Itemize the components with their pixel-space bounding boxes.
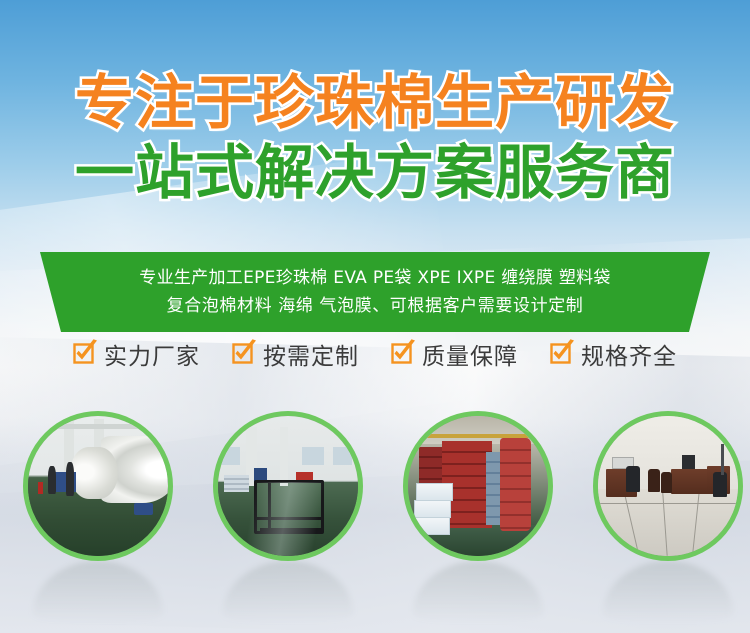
headline-primary: 专注于珍珠棉生产研发 (0, 72, 750, 134)
photo-reflection (413, 561, 543, 623)
check-box-icon (73, 343, 95, 365)
feature-list: 实力厂家 按需定制 质量保障 (0, 337, 750, 371)
green-band-shape (0, 252, 750, 332)
feature-label: 规格齐全 (581, 337, 677, 371)
check-box-icon (232, 343, 254, 365)
photo-image-workshop-rack (218, 416, 358, 556)
promo-banner: 专注于珍珠棉生产研发 一站式解决方案服务商 专业生产加工EPE珍珠棉 EVA P… (0, 0, 750, 633)
photo-warehouse-stock (403, 411, 553, 561)
feature-item-custom: 按需定制 (232, 337, 359, 371)
photo-reflection (223, 561, 353, 623)
feature-label: 质量保障 (422, 337, 518, 371)
photo-office (593, 411, 743, 561)
check-box-icon (391, 343, 413, 365)
feature-label: 按需定制 (263, 337, 359, 371)
headline-block: 专注于珍珠棉生产研发 一站式解决方案服务商 (0, 72, 750, 204)
photo-image-warehouse-stock (408, 416, 548, 556)
photo-circle-frame (593, 411, 743, 561)
photo-reflection (603, 561, 733, 623)
feature-label: 实力厂家 (104, 337, 200, 371)
feature-item-quality: 质量保障 (391, 337, 518, 371)
photo-circle-frame (213, 411, 363, 561)
headline-secondary: 一站式解决方案服务商 (0, 142, 750, 204)
feature-item-specs: 规格齐全 (550, 337, 677, 371)
photo-image-foam-rolls (28, 416, 168, 556)
feature-item-strength: 实力厂家 (73, 337, 200, 371)
photo-workshop-rack (213, 411, 363, 561)
photo-image-office (598, 416, 738, 556)
photo-foam-rolls (23, 411, 173, 561)
check-box-icon (550, 343, 572, 365)
photo-gallery (0, 411, 750, 561)
photo-circle-frame (403, 411, 553, 561)
photo-reflection (33, 561, 163, 623)
photo-circle-frame (23, 411, 173, 561)
